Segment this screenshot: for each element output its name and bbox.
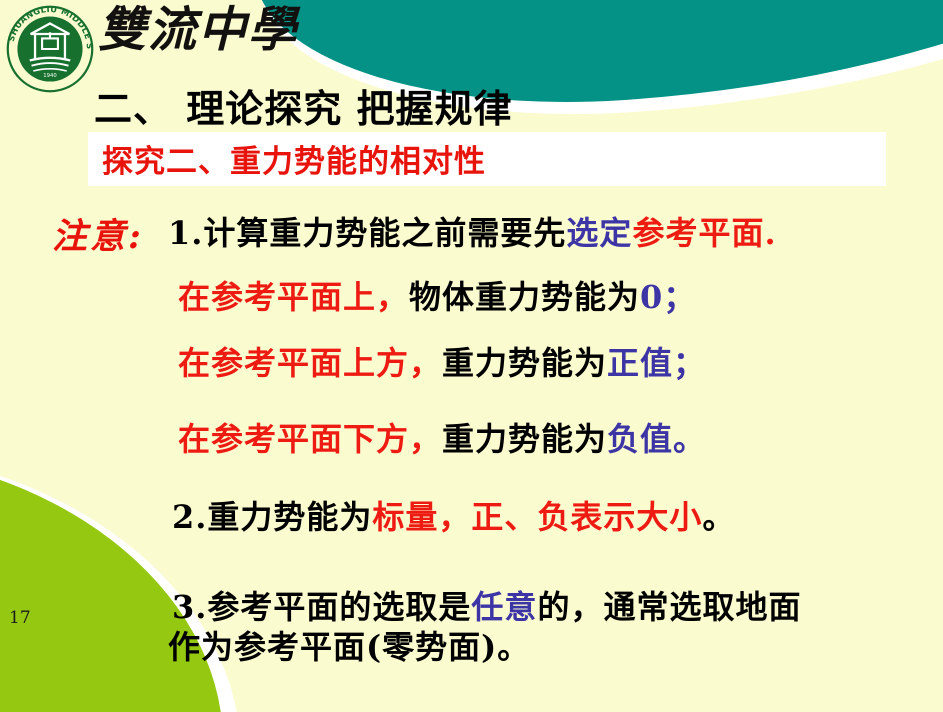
note-segment: ；: [663, 278, 696, 316]
note-segment: 在参考平面下方，: [178, 420, 442, 458]
note-segment: 负值。: [607, 420, 706, 458]
note-segment: 在参考平面上方，: [178, 344, 442, 382]
note-line-5: 2.重力势能为标量，正、负表示大小。: [172, 492, 735, 538]
note-segment: 参考平面.: [632, 214, 776, 252]
subtitle-text: 探究二、重力势能的相对性: [102, 136, 486, 181]
note-segment: 在参考平面上，: [178, 278, 409, 316]
svg-text:1940: 1940: [43, 73, 56, 79]
subtitle-band: 探究二、重力势能的相对性: [88, 132, 886, 186]
note-label: 注意:: [52, 208, 144, 259]
note-segment: 0: [640, 278, 663, 316]
note-segment: 物体重力势能为: [409, 278, 640, 316]
note-segment: 正值；: [607, 344, 706, 382]
page-number: 17: [9, 608, 31, 628]
school-crest-logo: SHUANGLIU MIDDLE SCHOOL 1940: [6, 5, 94, 93]
note-segment: 重力势能为: [442, 420, 607, 458]
note-segment: 选定: [566, 214, 632, 252]
note-line-2: 在参考平面上，物体重力势能为0；: [178, 272, 696, 318]
note-segment: 的，通常选取地面: [537, 588, 801, 626]
note-segment: 标量，正、负表示大小: [372, 498, 702, 536]
note-line-7: 作为参考平面(零势面)。: [168, 622, 530, 668]
school-name-calligraphy: 雙流中學: [98, 6, 298, 54]
note-line-3: 在参考平面上方，重力势能为正值；: [178, 338, 706, 384]
note-segment: 1.计算重力势能之前需要先: [168, 214, 566, 252]
note-segment: 作为参考平面(零势面)。: [168, 628, 530, 666]
note-segment: 2.重力势能为: [172, 498, 372, 536]
note-segment: 3.参考平面的选取是: [172, 588, 471, 626]
presentation-slide: SHUANGLIU MIDDLE SCHOOL 1940 雙流中學 二、 理论探…: [0, 0, 943, 712]
note-line-4: 在参考平面下方，重力势能为负值。: [178, 414, 706, 460]
note-segment: 任意: [471, 588, 537, 626]
note-line-1: 1.计算重力势能之前需要先选定参考平面.: [168, 208, 777, 254]
note-segment: 。: [702, 498, 735, 536]
note-segment: 重力势能为: [442, 344, 607, 382]
page-title: 二、 理论探究 把握规律: [94, 78, 512, 133]
